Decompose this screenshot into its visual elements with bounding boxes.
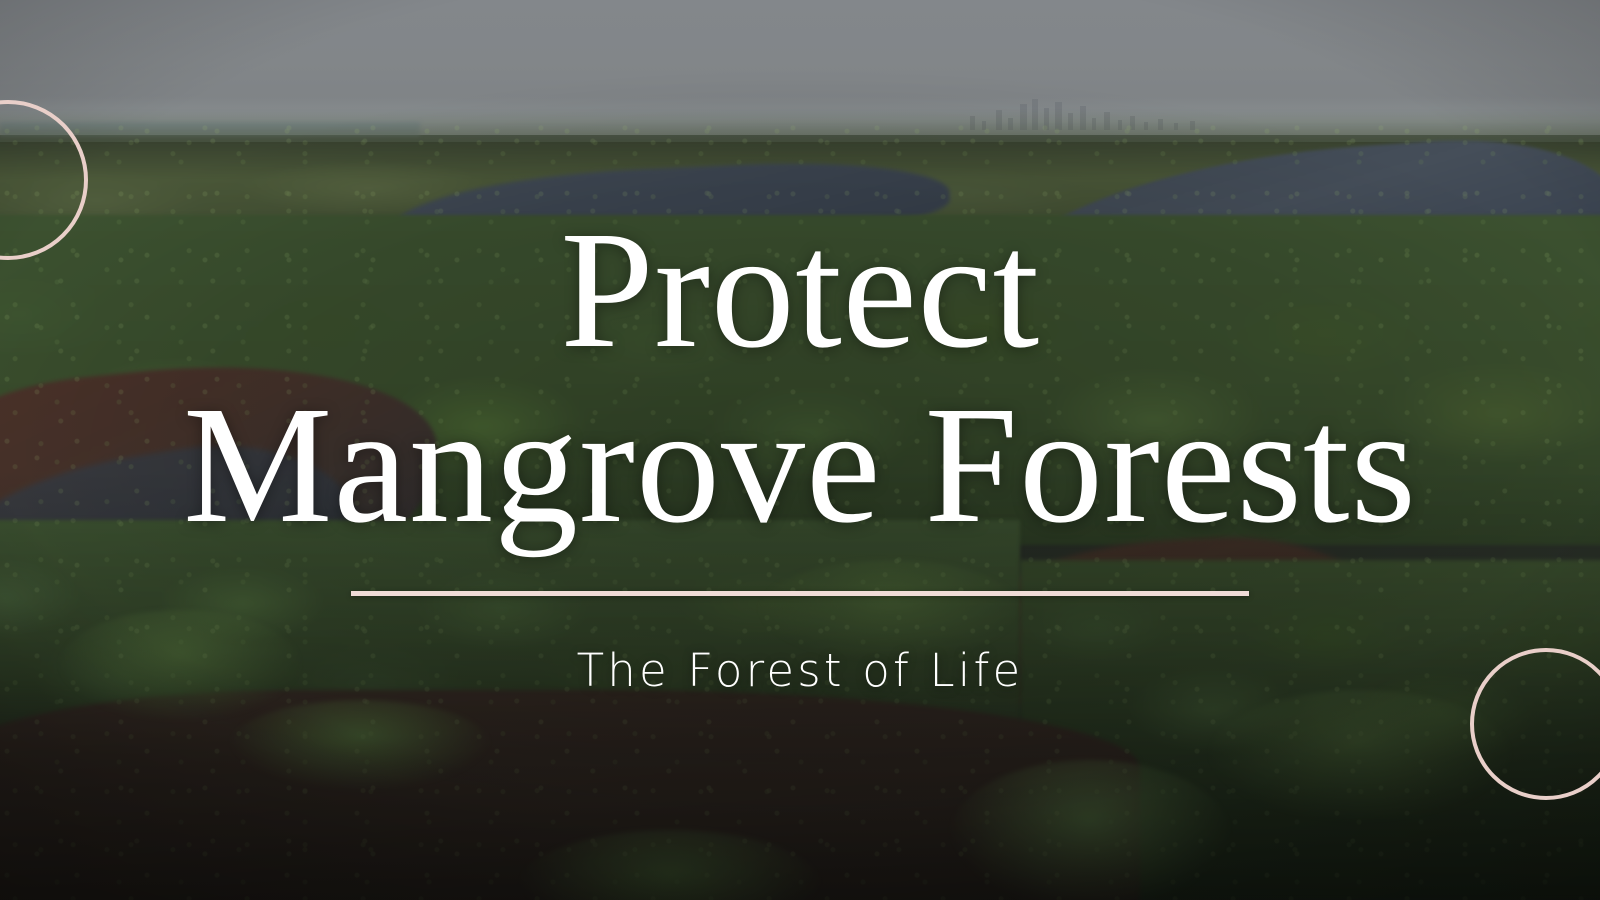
slide-title: Protect Mangrove Forests (183, 203, 1417, 552)
presentation-slide: Protect Mangrove Forests The Forest of L… (0, 0, 1600, 900)
title-line-1: Protect (183, 203, 1417, 378)
slide-subtitle: The Forest of Life (577, 644, 1024, 697)
divider-rule (351, 591, 1249, 596)
slide-content: Protect Mangrove Forests The Forest of L… (0, 0, 1600, 900)
title-line-2: Mangrove Forests (183, 378, 1417, 553)
